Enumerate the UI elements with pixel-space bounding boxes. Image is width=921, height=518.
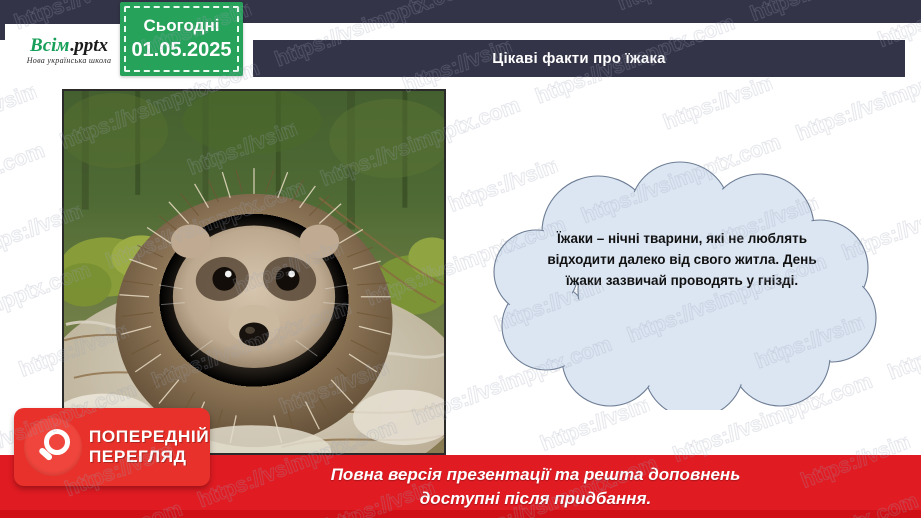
today-label: Сьогодні	[144, 15, 220, 37]
fact-cloud-callout: Їжаки – нічні тварини, які не люблять ві…	[480, 160, 884, 410]
magnifier-glyph	[33, 427, 73, 467]
logo-word-vsim: Всім	[30, 35, 69, 56]
logo-wordmark: Всім.pptx	[30, 36, 108, 55]
preview-badge-labels: ПОПЕРЕДНІЙ ПЕРЕГЛЯД	[90, 427, 208, 467]
fact-cloud-text: Їжаки – нічні тварини, які не люблять ві…	[532, 228, 832, 291]
preview-badge[interactable]: ПОПЕРЕДНІЙ ПЕРЕГЛЯД	[14, 408, 210, 486]
page-title: Цікаві факти про їжака	[492, 50, 665, 67]
hedgehog-photo	[62, 89, 446, 455]
purchase-notice-line1: Повна версія презентації та решта доповн…	[331, 465, 741, 484]
preview-badge-line2: ПЕРЕГЛЯД	[89, 447, 209, 467]
hedgehog-photo-illustration	[64, 91, 444, 453]
slide-canvas: Всім.pptx Нова українська школа Сьогодні…	[0, 0, 921, 518]
magnifier-icon	[24, 418, 82, 476]
logo-subtitle: Нова українська школа	[27, 56, 112, 65]
logo-word-pptx: pptx	[74, 35, 108, 56]
today-date-badge: Сьогодні 01.05.2025	[120, 2, 243, 76]
purchase-notice-line2: доступні після придбання.	[420, 489, 651, 508]
preview-badge-line1: ПОПЕРЕДНІЙ	[89, 427, 209, 447]
today-date-value: 01.05.2025	[131, 37, 231, 63]
brand-logo: Всім.pptx Нова українська школа	[5, 24, 133, 76]
slide-title-bar: Цікаві факти про їжака	[253, 40, 905, 77]
